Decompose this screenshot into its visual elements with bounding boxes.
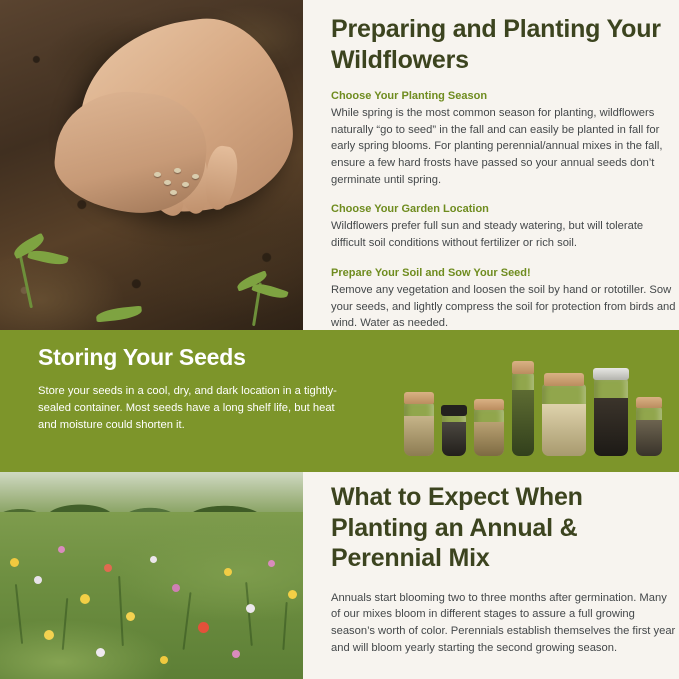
body-garden-location: Wildflowers prefer full sun and steady w… (331, 218, 679, 251)
cork-lid-icon (512, 361, 534, 374)
cork-lid-icon (544, 373, 584, 386)
flower-icon (10, 558, 19, 567)
flower-icon (198, 622, 209, 633)
section-preparing-text: Preparing and Planting Your Wildflowers … (331, 0, 679, 330)
subheading-garden-location: Choose Your Garden Location (331, 202, 679, 216)
flower-icon (232, 650, 240, 658)
section-preparing-planting: Preparing and Planting Your Wildflowers … (0, 0, 679, 330)
hand-sowing-seeds-photo (0, 0, 303, 330)
flower-icon (58, 546, 65, 553)
jar-shape (512, 372, 534, 456)
subheading-prepare-soil: Prepare Your Soil and Sow Your Seed! (331, 266, 679, 280)
body-expect: Annuals start blooming two to three mont… (331, 590, 679, 657)
body-prepare-soil: Remove any vegetation and loosen the soi… (331, 282, 679, 332)
page-title-expect: What to Expect When Planting an Annual &… (331, 472, 679, 574)
body-planting-season: While spring is the most common season f… (331, 105, 679, 188)
meadow-background (0, 512, 303, 679)
flower-icon (96, 648, 105, 657)
cork-lid-icon (474, 399, 504, 410)
cork-lid-icon (636, 397, 662, 408)
jar-shape (542, 384, 586, 456)
wildflower-meadow-photo (0, 472, 303, 679)
jar-shape (474, 408, 504, 456)
section-storing-seeds: Storing Your Seeds Store your seeds in a… (0, 330, 679, 472)
flower-icon (44, 630, 54, 640)
flower-icon (34, 576, 42, 584)
flower-icon (268, 560, 275, 567)
section-expect-text: What to Expect When Planting an Annual &… (331, 472, 679, 679)
flower-icon (80, 594, 90, 604)
subheading-planting-season: Choose Your Planting Season (331, 89, 679, 103)
page-title-storing: Storing Your Seeds (38, 344, 338, 371)
jar-shape (594, 378, 628, 456)
jar-shape (442, 414, 466, 456)
flower-icon (104, 564, 112, 572)
seed-storage-jars-photo (382, 332, 679, 472)
flower-icon (224, 568, 232, 576)
jar-shape (636, 406, 662, 456)
infographic-page: Preparing and Planting Your Wildflowers … (0, 0, 679, 679)
silver-lid-icon (593, 368, 629, 380)
black-lid-icon (441, 405, 467, 416)
seeds-group (150, 160, 210, 200)
cork-lid-icon (404, 392, 434, 404)
body-storing: Store your seeds in a cool, dry, and dar… (38, 383, 338, 433)
flower-icon (150, 556, 157, 563)
section-what-to-expect: What to Expect When Planting an Annual &… (0, 472, 679, 679)
flower-icon (288, 590, 297, 599)
page-title-preparing: Preparing and Planting Your Wildflowers (331, 0, 679, 75)
flower-icon (160, 656, 168, 664)
flower-icon (246, 604, 255, 613)
flower-icon (126, 612, 135, 621)
jar-shape (404, 402, 434, 456)
section-storing-text: Storing Your Seeds Store your seeds in a… (38, 344, 338, 433)
flower-icon (172, 584, 180, 592)
